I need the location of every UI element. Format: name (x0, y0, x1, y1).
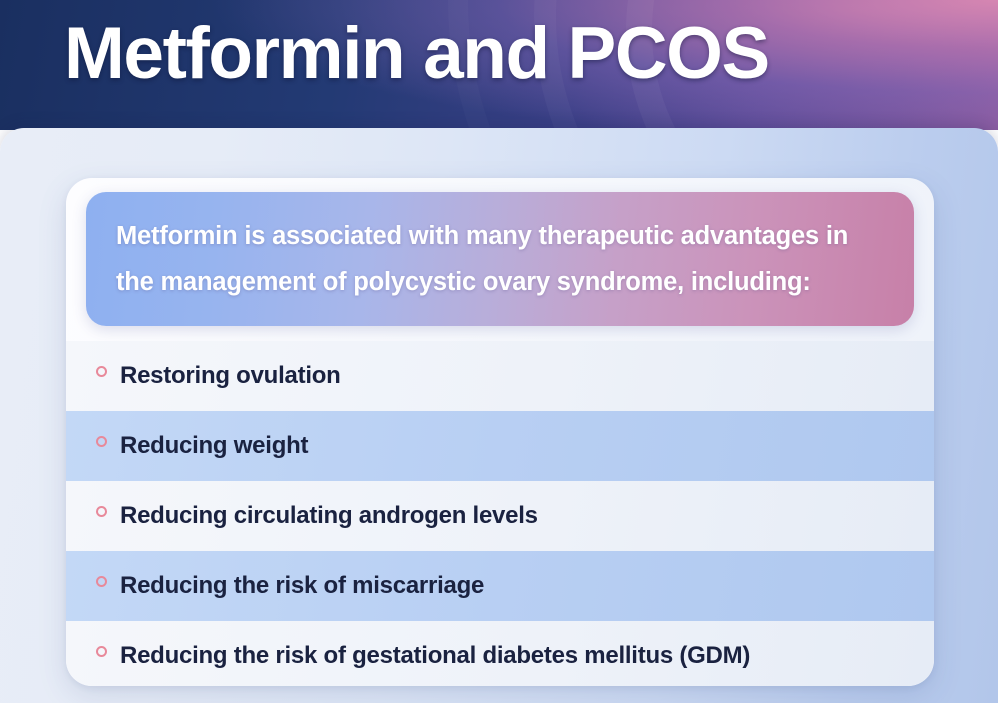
benefits-list: Restoring ovulation Reducing weight Redu… (66, 341, 934, 686)
list-item-label: Restoring ovulation (120, 361, 341, 391)
page-title: Metformin and PCOS (64, 0, 769, 114)
list-item: Restoring ovulation (66, 341, 934, 411)
list-item-label: Reducing the risk of miscarriage (120, 571, 484, 601)
infographic-slide: Metformin and PCOS Metformin is associat… (0, 0, 998, 703)
content-panel: Metformin is associated with many therap… (0, 128, 998, 703)
bullet-circle-icon (96, 506, 107, 517)
benefits-card: Metformin is associated with many therap… (66, 178, 934, 686)
list-item-label: Reducing circulating androgen levels (120, 501, 538, 531)
bullet-circle-icon (96, 576, 107, 587)
bullet-circle-icon (96, 646, 107, 657)
list-item: Reducing the risk of gestational diabete… (66, 621, 934, 686)
intro-banner-text: Metformin is associated with many therap… (116, 213, 890, 305)
list-item: Reducing circulating androgen levels (66, 481, 934, 551)
bullet-circle-icon (96, 436, 107, 447)
header-banner: Metformin and PCOS (0, 0, 998, 130)
list-item: Reducing the risk of miscarriage (66, 551, 934, 621)
bullet-circle-icon (96, 366, 107, 377)
list-item-label: Reducing the risk of gestational diabete… (120, 641, 750, 671)
intro-banner: Metformin is associated with many therap… (86, 192, 914, 326)
list-item: Reducing weight (66, 411, 934, 481)
list-item-label: Reducing weight (120, 431, 308, 461)
